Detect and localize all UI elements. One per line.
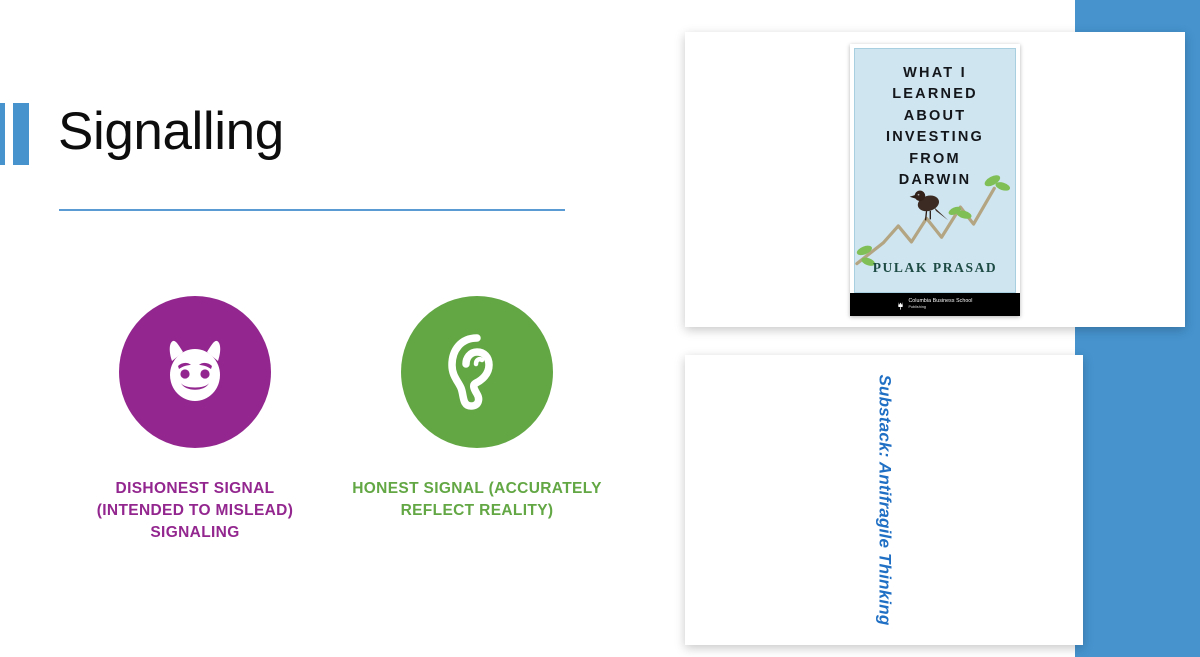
book-title: WHAT I LEARNED ABOUT INVESTING FROM DARW… <box>855 63 1015 192</box>
concept-dishonest-signal: DISHONEST SIGNAL (INTENDED TO MISLEAD) S… <box>50 296 340 544</box>
dishonest-signal-icon-badge <box>119 296 271 448</box>
publisher-sublabel: Publishing <box>908 304 972 310</box>
blue-backdrop-panel-bottom <box>1075 330 1200 657</box>
devil-face-icon <box>156 333 234 411</box>
book-title-line: DARWIN <box>855 170 1015 192</box>
title-accent-bar-thin <box>0 103 5 165</box>
title-accent-bar-thick <box>13 103 29 165</box>
substack-label: Substack: Antifragile Thinking <box>874 375 894 626</box>
book-title-line: WHAT I <box>855 63 1015 85</box>
bird-illustration <box>910 190 949 220</box>
honest-signal-caption: HONEST SIGNAL (ACCURATELY REFLECT REALIT… <box>352 478 602 522</box>
book-publisher-bar: Columbia Business School Publishing <box>850 293 1020 316</box>
book-image-card: WHAT I LEARNED ABOUT INVESTING FROM DARW… <box>685 32 1185 327</box>
book-cover: WHAT I LEARNED ABOUT INVESTING FROM DARW… <box>850 44 1020 316</box>
columbia-crown-icon <box>897 299 904 310</box>
book-title-line: FROM <box>855 149 1015 171</box>
slide-canvas: Signalling <box>0 0 1200 657</box>
book-title-line: LEARNED <box>855 84 1015 106</box>
dishonest-signal-caption: DISHONEST SIGNAL (INTENDED TO MISLEAD) S… <box>70 478 320 544</box>
concepts-row: DISHONEST SIGNAL (INTENDED TO MISLEAD) S… <box>40 296 640 596</box>
page-title: Signalling <box>58 101 284 163</box>
publisher-label: Columbia Business School <box>908 298 972 304</box>
publisher-name: Columbia Business School Publishing <box>908 298 972 311</box>
book-cover-face: WHAT I LEARNED ABOUT INVESTING FROM DARW… <box>854 48 1016 293</box>
book-title-line: INVESTING <box>855 127 1015 149</box>
ear-icon <box>442 334 512 410</box>
title-divider-rule <box>59 209 565 211</box>
substack-card: Substack: Antifragile Thinking <box>685 355 1083 645</box>
book-title-line: ABOUT <box>855 106 1015 128</box>
concept-honest-signal: HONEST SIGNAL (ACCURATELY REFLECT REALIT… <box>332 296 622 522</box>
book-author: PULAK PRASAD <box>855 260 1015 276</box>
honest-signal-icon-badge <box>401 296 553 448</box>
